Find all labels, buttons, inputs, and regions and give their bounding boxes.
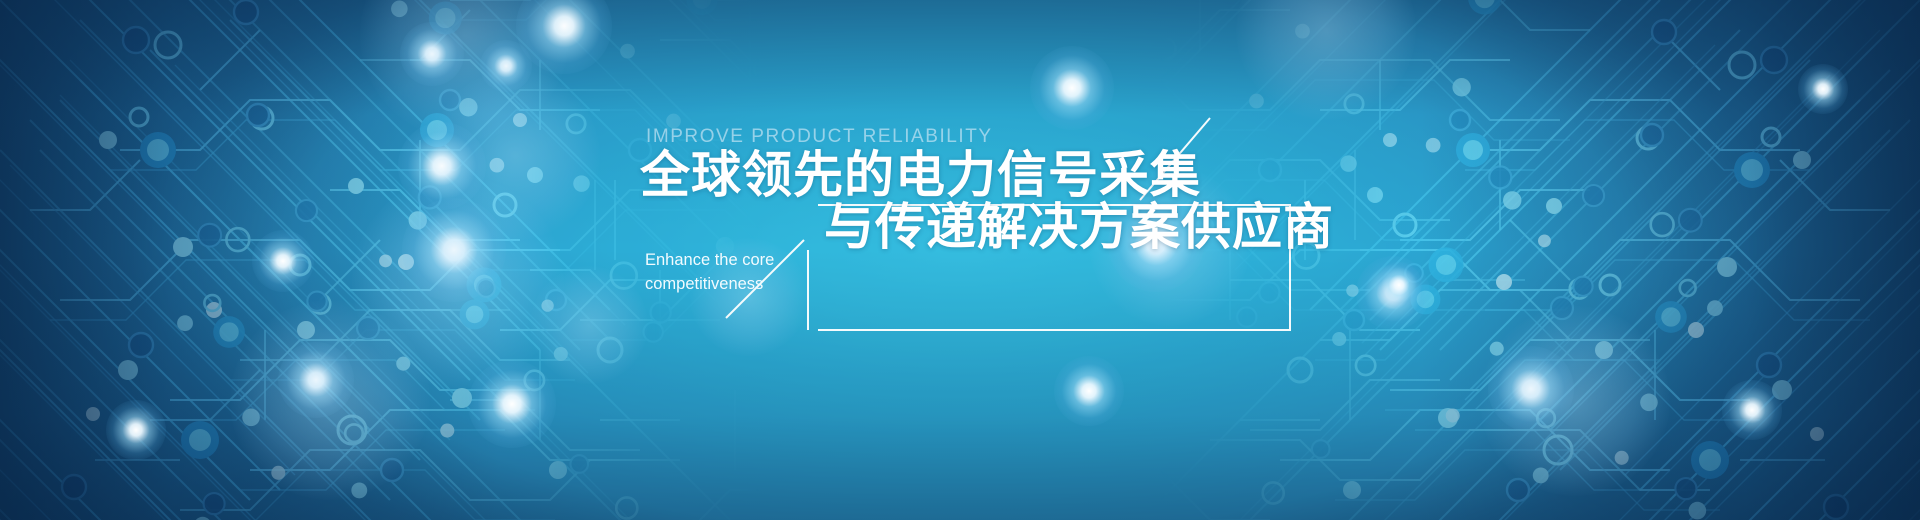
hero-banner: IMPROVE PRODUCT RELIABILITY 全球领先的电力信号采集 … [0, 0, 1920, 520]
headline-line-2: 与传递解决方案供应商 [824, 200, 1334, 254]
subtitle-line-2: competitiveness [645, 272, 774, 296]
headline-line-1: 全球领先的电力信号采集 [640, 148, 1201, 202]
eyebrow-text: IMPROVE PRODUCT RELIABILITY [646, 126, 993, 148]
subtitle-text: Enhance the core competitiveness [645, 248, 774, 297]
hero-text-block: IMPROVE PRODUCT RELIABILITY 全球领先的电力信号采集 … [0, 0, 1920, 520]
subtitle-line-1: Enhance the core [645, 248, 774, 272]
